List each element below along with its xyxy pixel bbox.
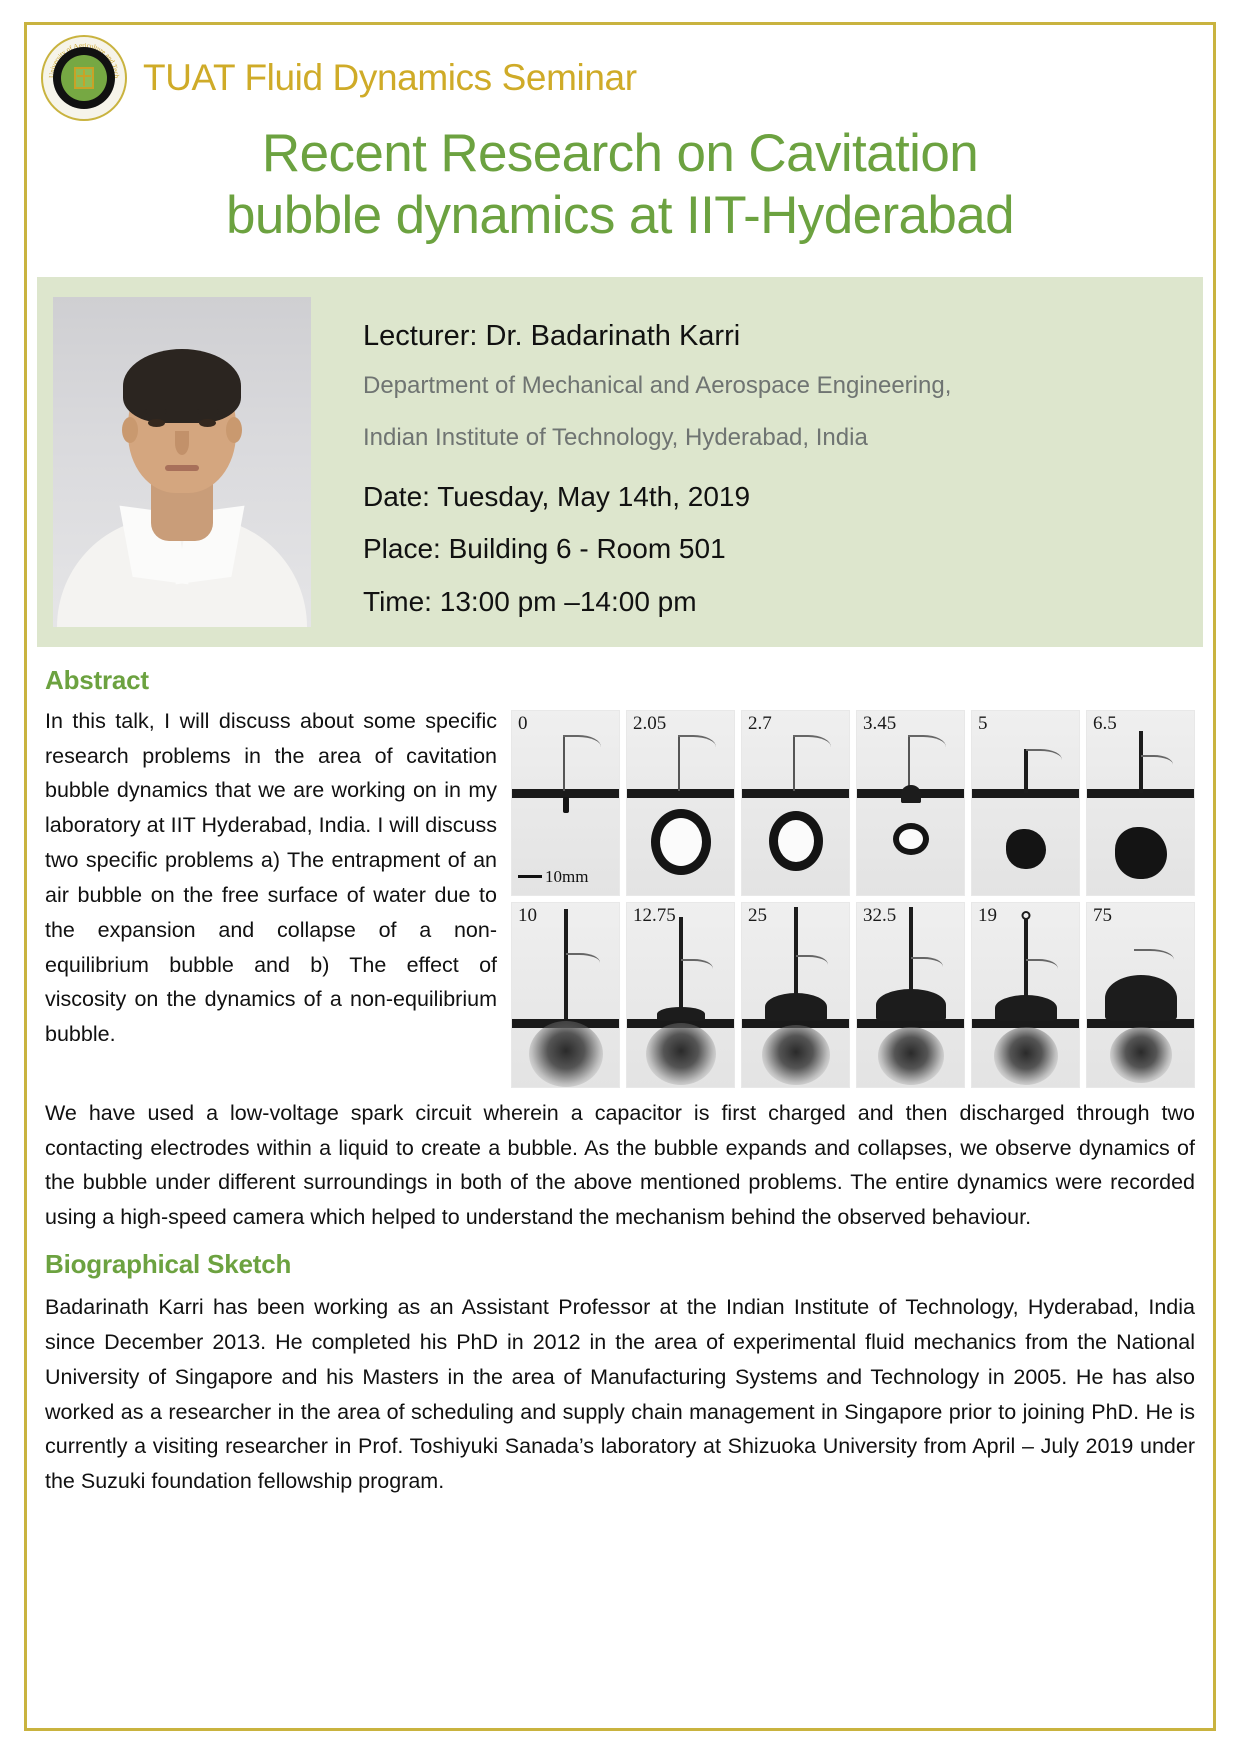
- seal-emblem: [74, 67, 94, 89]
- electrode-wire-bend: [566, 953, 600, 969]
- frame-time-label: 3.45: [863, 713, 896, 735]
- frame-time-label: 10: [518, 905, 537, 927]
- frame-time-label: 6.5: [1093, 713, 1117, 735]
- electrode-wire-bend: [681, 959, 713, 975]
- entrapped-air-dome: [876, 989, 946, 1021]
- electrode-wire-bend: [1134, 949, 1174, 967]
- debris-cloud: [878, 1027, 944, 1085]
- debris-cloud: [646, 1023, 716, 1085]
- portrait-brow-right: [197, 409, 219, 414]
- scale-bar: 10mm: [518, 867, 588, 887]
- portrait-brow-left: [145, 409, 167, 414]
- portrait-ear-right: [226, 417, 242, 443]
- electrode-wire-bend: [911, 957, 943, 973]
- entrapped-air-dome: [1105, 975, 1177, 1021]
- debris-cloud: [994, 1027, 1058, 1085]
- portrait-nose: [175, 431, 189, 455]
- frame-cell: 19: [971, 902, 1080, 1088]
- frame-time-label: 12.75: [633, 905, 676, 927]
- lecturer-name: Lecturer: Dr. Badarinath Karri: [363, 315, 1175, 357]
- speaker-photo: [53, 297, 311, 627]
- portrait-mouth: [165, 465, 199, 471]
- surface-bulge: [901, 785, 921, 803]
- seminar-series-title: TUAT Fluid Dynamics Seminar: [143, 57, 637, 99]
- seminar-time: Time: 13:00 pm –14:00 pm: [363, 579, 1175, 625]
- frame-cell: 2.05: [626, 710, 735, 896]
- water-surface-line: [627, 789, 734, 798]
- bio-text: Badarinath Karri has been working as an …: [45, 1290, 1195, 1499]
- figure-row-2: 10 12.75: [511, 902, 1195, 1088]
- seal-inner-disc: [53, 47, 115, 109]
- university-seal-icon: Tokyo University of Agriculture and Tech…: [41, 35, 127, 121]
- abstract-heading: Abstract: [45, 665, 1195, 696]
- poster-frame: Tokyo University of Agriculture and Tech…: [24, 22, 1216, 1731]
- bio-heading: Biographical Sketch: [45, 1249, 1195, 1280]
- frame-time-label: 0: [518, 713, 528, 735]
- portrait-eye-left: [148, 419, 165, 427]
- debris-cloud: [1110, 1027, 1172, 1083]
- frame-cell: 25: [741, 902, 850, 1088]
- frame-cell: 75: [1086, 902, 1195, 1088]
- frame-cell: 2.7: [741, 710, 850, 896]
- frame-time-label: 2.7: [748, 713, 772, 735]
- frame-cell: 10: [511, 902, 620, 1088]
- scale-bar-line: [518, 875, 542, 878]
- electrode-wire-bend: [908, 735, 946, 755]
- jet-droplet: [1021, 911, 1030, 920]
- frame-cell: 6.5: [1086, 710, 1195, 896]
- portrait-hair: [123, 349, 241, 423]
- cavitation-bubble: [651, 809, 711, 875]
- frame-time-label: 2.05: [633, 713, 666, 735]
- electrode-wire-bend: [796, 955, 828, 971]
- electrode-wire-bend: [1141, 755, 1173, 771]
- electrode-wire-bend: [678, 735, 716, 755]
- affiliation-line-2: Indian Institute of Technology, Hyderaba…: [363, 415, 1175, 461]
- scale-bar-label: 10mm: [545, 867, 588, 887]
- seal-leaf-wreath: [61, 55, 107, 101]
- bubble-collapse-cloud: [1006, 829, 1046, 869]
- abstract-full-width-text: We have used a low-voltage spark circuit…: [45, 1096, 1195, 1235]
- abstract-column-text: In this talk, I will discuss about some …: [45, 704, 497, 1052]
- electrode-wire-bend: [1026, 749, 1062, 767]
- cavitation-bubble: [769, 811, 823, 871]
- electrode-wire-bend: [1026, 959, 1058, 975]
- abstract-top-row: In this talk, I will discuss about some …: [45, 704, 1195, 1094]
- poster-header: Tokyo University of Agriculture and Tech…: [27, 25, 1213, 117]
- frame-cell: 32.5: [856, 902, 965, 1088]
- page-title-line1: Recent Research on Cavitation: [67, 123, 1173, 185]
- frame-time-label: 19: [978, 905, 997, 927]
- page-title: Recent Research on Cavitation bubble dyn…: [27, 117, 1213, 247]
- water-surface-line: [742, 789, 849, 798]
- speaker-band: Lecturer: Dr. Badarinath Karri Departmen…: [37, 277, 1203, 647]
- speaker-details: Lecturer: Dr. Badarinath Karri Departmen…: [327, 291, 1203, 631]
- bubble-sequence-figure: 0 10mm 2.05: [511, 704, 1195, 1094]
- portrait-eye-right: [199, 419, 216, 427]
- seminar-poster: Tokyo University of Agriculture and Tech…: [0, 0, 1240, 1753]
- frame-cell: 5: [971, 710, 1080, 896]
- frame-time-label: 25: [748, 905, 767, 927]
- debris-cloud: [762, 1025, 830, 1085]
- affiliation-line-1: Department of Mechanical and Aerospace E…: [363, 363, 1175, 409]
- page-title-line2: bubble dynamics at IIT-Hyderabad: [67, 185, 1173, 247]
- entrapped-air-dome: [765, 993, 827, 1021]
- frame-time-label: 75: [1093, 905, 1112, 927]
- portrait-ear-left: [122, 417, 138, 443]
- cavitation-bubble: [893, 823, 929, 855]
- entrapped-air-dome: [657, 1007, 705, 1021]
- poster-body: Abstract In this talk, I will discuss ab…: [27, 647, 1213, 1499]
- frame-time-label: 5: [978, 713, 988, 735]
- entrapped-air-dome: [995, 995, 1057, 1021]
- frame-cell: 0 10mm: [511, 710, 620, 896]
- spark-point: [563, 797, 569, 813]
- electrode-wire-bend: [563, 735, 601, 755]
- bubble-collapse-cloud: [1115, 827, 1167, 879]
- electrode-wire-bend: [793, 735, 831, 755]
- seminar-date: Date: Tuesday, May 14th, 2019: [363, 474, 1175, 520]
- figure-row-1: 0 10mm 2.05: [511, 710, 1195, 896]
- frame-time-label: 32.5: [863, 905, 896, 927]
- seminar-place: Place: Building 6 - Room 501: [363, 526, 1175, 572]
- frame-cell: 12.75: [626, 902, 735, 1088]
- portrait-container: [37, 291, 327, 631]
- frame-cell: 3.45: [856, 710, 965, 896]
- debris-cloud: [529, 1021, 603, 1087]
